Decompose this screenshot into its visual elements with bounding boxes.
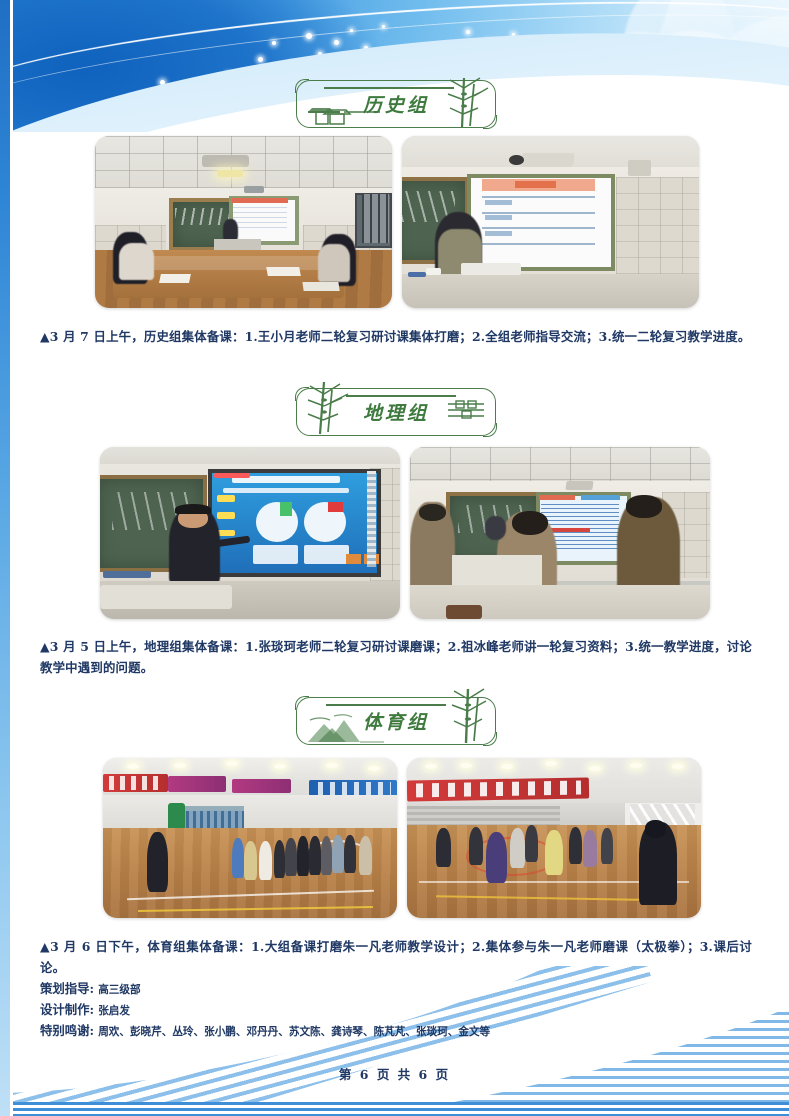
caption-geography: ▲3 月 5 日上午，地理组集体备课：1.张琰珂老师二轮复习研讨课磨课；2.祖冰… bbox=[40, 636, 752, 678]
newsletter-page: 历史组 bbox=[0, 0, 789, 1116]
photo-row-geography bbox=[100, 447, 710, 619]
section-badge-geography: 地理组 bbox=[296, 388, 496, 436]
section-badge-pe: 体育组 bbox=[296, 697, 496, 745]
left-border-inner-white bbox=[10, 0, 13, 1116]
credit-value: 张启发 bbox=[98, 1005, 130, 1017]
credit-design: 设计制作: 张启发 bbox=[40, 999, 130, 1022]
caption-history: ▲3 月 7 日上午，历史组集体备课：1.王小月老师二轮复习研讨课集体打磨；2.… bbox=[40, 326, 752, 347]
credit-label: 特别鸣谢: bbox=[40, 1023, 94, 1038]
badge-top-rule bbox=[346, 395, 456, 397]
sparkle-icon bbox=[258, 57, 263, 62]
badge-title-text: 体育组 bbox=[296, 708, 496, 735]
photo-geography-right bbox=[410, 447, 710, 619]
page-number: 第 6 页 共 6 页 bbox=[0, 1064, 789, 1083]
sparkle-icon bbox=[306, 33, 312, 39]
credit-value: 高三级部 bbox=[98, 984, 140, 996]
badge-title-text: 地理组 bbox=[296, 399, 496, 426]
photo-history-right bbox=[402, 136, 699, 308]
sparkle-icon bbox=[272, 41, 276, 45]
badge-title-text: 历史组 bbox=[296, 91, 496, 118]
photo-pe-left bbox=[103, 758, 397, 918]
sparkle-icon bbox=[466, 30, 470, 34]
badge-top-rule bbox=[326, 704, 446, 706]
sparkle-icon bbox=[382, 25, 385, 28]
photo-row-pe bbox=[103, 758, 701, 918]
caption-pe: ▲3 月 6 日下午，体育组集体备课：1.大组备课打磨朱一凡老师教学设计；2.集… bbox=[40, 936, 752, 978]
credit-value: 周欢、彭晓芹、丛玲、张小鹏、邓丹丹、苏文陈、龚诗琴、陈芃芃、张琰珂、金文等 bbox=[98, 1026, 490, 1038]
photo-pe-right bbox=[407, 758, 701, 918]
left-blue-border bbox=[0, 0, 10, 1116]
photo-geography-left bbox=[100, 447, 400, 619]
footer-bottom-stripes bbox=[0, 1102, 789, 1116]
photo-history-left bbox=[95, 136, 392, 308]
section-badge-history: 历史组 bbox=[296, 80, 496, 128]
photo-row-history bbox=[95, 136, 699, 308]
credit-label: 设计制作: bbox=[40, 1002, 94, 1017]
credit-planning: 策划指导: 高三级部 bbox=[40, 978, 141, 1001]
credit-thanks: 特别鸣谢: 周欢、彭晓芹、丛玲、张小鹏、邓丹丹、苏文陈、龚诗琴、陈芃芃、张琰珂、… bbox=[40, 1020, 490, 1043]
sparkle-icon bbox=[350, 29, 353, 32]
credit-label: 策划指导: bbox=[40, 981, 94, 996]
sparkle-icon bbox=[334, 40, 339, 45]
